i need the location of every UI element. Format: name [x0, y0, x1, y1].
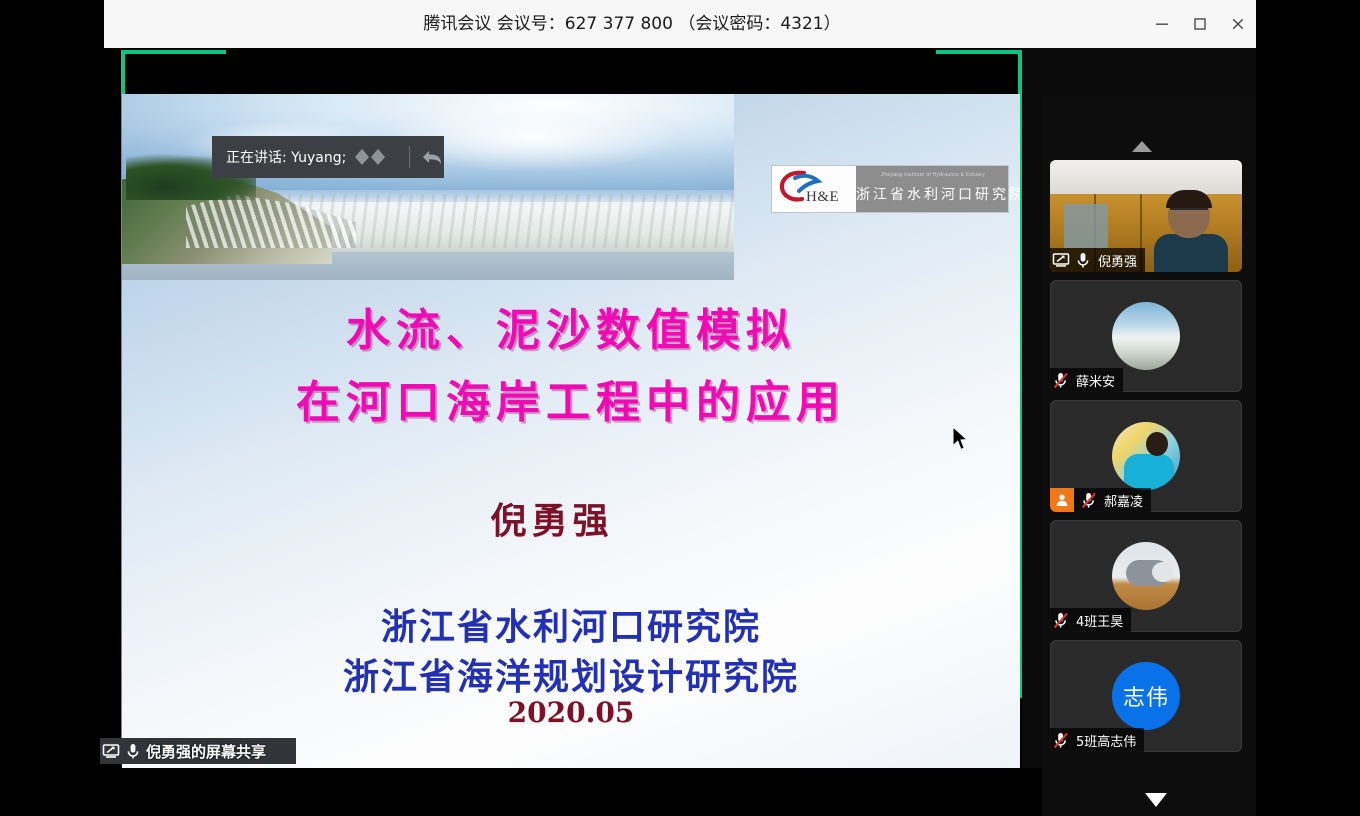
speaking-now-label: 正在讲话: Yuyang; [226, 147, 346, 167]
slide-date: 2020.05 [122, 696, 1020, 729]
avatar-torso [1124, 454, 1174, 490]
speaking-indicator-toolbar[interactable]: 正在讲话: Yuyang; [212, 136, 444, 178]
meeting-body: H&E Zhejiang Institute of Hydraulics & E… [104, 48, 1256, 768]
participant-nameplate: 倪勇强 [1050, 248, 1145, 272]
logo-nameplate: Zhejiang Institute of Hydraulics & Estua… [856, 166, 1008, 212]
institute-logo: H&E Zhejiang Institute of Hydraulics & E… [772, 166, 1008, 212]
undo-icon [421, 147, 443, 167]
screen-share-status-bar: 倪勇强的屏幕共享 [100, 738, 296, 764]
initials-avatar: 志伟 [1112, 662, 1180, 730]
screen-share-icon [1050, 249, 1072, 271]
logo-english-name: Zhejiang Institute of Hydraulics & Estua… [864, 172, 1002, 180]
participant-tile[interactable]: 4班王昊 [1050, 520, 1242, 632]
annotate-button[interactable] [350, 144, 396, 170]
shared-screen-stage[interactable]: H&E Zhejiang Institute of Hydraulics & E… [104, 48, 1022, 768]
avatar-head [1146, 432, 1168, 456]
minimize-icon [1154, 16, 1170, 32]
participant-name: 郝嘉凌 [1104, 491, 1143, 510]
participant-nameplate: 5班高志伟 [1050, 728, 1144, 752]
scroll-up-button[interactable] [1124, 138, 1160, 154]
mic-muted-icon [1078, 489, 1100, 511]
triangle-up-icon [1124, 138, 1160, 154]
mic-icon [122, 740, 144, 762]
window-title: 腾讯会议 会议号：627 377 800 （会议密码：4321） [104, 0, 1160, 48]
screen-share-icon [100, 740, 122, 762]
slide-header-photo [122, 94, 734, 280]
participant-tile[interactable]: 郝嘉凌 [1050, 400, 1242, 512]
triangle-down-icon [1138, 788, 1174, 810]
person-hair [1166, 190, 1212, 208]
participant-avatar [1112, 422, 1180, 490]
participant-tile[interactable]: 薛米安 [1050, 280, 1242, 392]
presentation-slide: H&E Zhejiang Institute of Hydraulics & E… [122, 94, 1020, 768]
scene-ceiling [1050, 160, 1242, 194]
child-photo-avatar [1112, 422, 1180, 490]
participant-rail: 倪勇强 [1042, 96, 1256, 816]
logo-chinese-name: 浙江省水利河口研究院 [856, 184, 1008, 204]
participant-nameplate: 郝嘉凌 [1050, 488, 1151, 512]
participant-avatar [1112, 302, 1180, 370]
maximize-button[interactable] [1184, 8, 1216, 40]
minimize-button[interactable] [1146, 8, 1178, 40]
participant-tile[interactable]: 志伟 5班高志伟 [1050, 640, 1242, 752]
slide-organization-line-2: 浙江省海洋规划设计研究院 [122, 648, 1020, 700]
slide-organization-line-1: 浙江省水利河口研究院 [122, 598, 1020, 650]
scene-glass-door [1064, 204, 1108, 248]
dog-photo-avatar [1112, 542, 1180, 610]
participant-name: 4班王昊 [1076, 611, 1123, 630]
maximize-icon [1192, 16, 1208, 32]
mic-muted-icon [1050, 729, 1072, 751]
slide-title-line-1: 水流、泥沙数值模拟 [122, 294, 1020, 358]
close-button[interactable] [1222, 8, 1254, 40]
screen-share-owner-label: 倪勇强的屏幕共享 [146, 741, 266, 762]
toolbar-divider [409, 146, 410, 168]
logo-abbr: H&E [806, 189, 839, 206]
participant-nameplate: 薛米安 [1050, 368, 1123, 392]
participant-name: 薛米安 [1076, 371, 1115, 390]
participant-nameplate: 4班王昊 [1050, 608, 1131, 632]
avatar-dog-head [1152, 562, 1174, 582]
participant-person [1154, 190, 1228, 272]
host-badge [1050, 488, 1074, 512]
person-torso [1154, 234, 1228, 272]
close-icon [1230, 16, 1246, 32]
scroll-down-button[interactable] [1138, 788, 1174, 810]
participant-tiles: 倪勇强 [1050, 160, 1248, 800]
beach-photo-avatar [1112, 302, 1180, 370]
logo-mark: H&E [772, 166, 856, 212]
window-titlebar: 腾讯会议 会议号：627 377 800 （会议密码：4321） [104, 0, 1256, 48]
annotate-icon [350, 144, 396, 170]
share-border-top-right [936, 50, 1022, 54]
participant-tile[interactable]: 倪勇强 [1050, 160, 1242, 272]
undo-button[interactable] [421, 147, 443, 167]
participant-avatar [1112, 542, 1180, 610]
mic-muted-icon [1050, 369, 1072, 391]
share-border-top-left [121, 50, 226, 54]
avatar-initials: 志伟 [1123, 680, 1169, 712]
person-glasses [1170, 208, 1208, 218]
slide-title-line-2: 在河口海岸工程中的应用 [122, 366, 1020, 430]
host-person-icon [1055, 493, 1069, 507]
participant-name: 倪勇强 [1098, 251, 1137, 270]
mic-muted-icon [1050, 609, 1072, 631]
tencent-meeting-window: 腾讯会议 会议号：627 377 800 （会议密码：4321） [104, 0, 1256, 768]
slide-author: 倪勇强 [122, 492, 982, 544]
participant-name: 5班高志伟 [1076, 731, 1136, 750]
screenshot-root: 腾讯会议 会议号：627 377 800 （会议密码：4321） [0, 0, 1360, 768]
mic-on-icon [1072, 249, 1094, 271]
